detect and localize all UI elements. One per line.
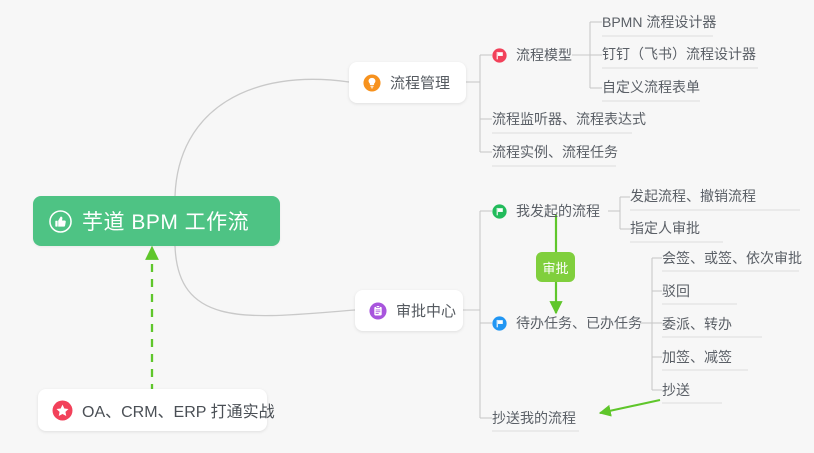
- node-process-management-label: 流程管理: [390, 72, 450, 93]
- node-approval-center-label: 审批中心: [396, 300, 456, 321]
- leaf-delegate-transfer-label: 委派、转办: [662, 314, 732, 334]
- leaf-dingtalk-feishu-designer[interactable]: 钉钉（飞书）流程设计器: [602, 40, 756, 68]
- leaf-countersign-or-sequential-label: 会签、或签、依次审批: [662, 248, 802, 268]
- leaf-bpmn-designer-label: BPMN 流程设计器: [602, 12, 716, 32]
- node-process-model-label: 流程模型: [516, 45, 572, 65]
- connector-root-to-approval-center: [175, 246, 355, 316]
- leaf-cc-label: 抄送: [662, 380, 690, 400]
- arrow-cc-to-process: [600, 400, 660, 413]
- leaf-custom-process-form[interactable]: 自定义流程表单: [602, 73, 700, 101]
- leaf-reject[interactable]: 驳回: [662, 277, 690, 305]
- leaf-reject-label: 驳回: [662, 281, 690, 301]
- leaf-custom-process-form-label: 自定义流程表单: [602, 77, 700, 97]
- leaf-add-remove-sign[interactable]: 加签、减签: [662, 343, 732, 371]
- node-todo-done-task[interactable]: 待办任务、已办任务: [492, 309, 642, 337]
- flag-icon: [492, 316, 507, 331]
- node-todo-done-task-label: 待办任务、已办任务: [516, 313, 642, 333]
- approval-badge[interactable]: 审批: [536, 252, 575, 282]
- leaf-process-instance-task[interactable]: 流程实例、流程任务: [492, 138, 618, 166]
- root-node[interactable]: 芋道 BPM 工作流: [33, 196, 280, 246]
- connector-root-to-process-management: [175, 79, 349, 196]
- clipboard-icon: [369, 302, 387, 320]
- node-my-started-process-label: 我发起的流程: [516, 201, 600, 221]
- leaf-cc-to-me-process[interactable]: 抄送我的流程: [492, 404, 576, 432]
- leaf-start-cancel-process[interactable]: 发起流程、撤销流程: [630, 182, 756, 210]
- root-label: 芋道 BPM 工作流: [82, 206, 249, 236]
- leaf-countersign-or-sequential[interactable]: 会签、或签、依次审批: [662, 244, 802, 272]
- leaf-cc-to-me-process-label: 抄送我的流程: [492, 408, 576, 428]
- leaf-add-remove-sign-label: 加签、减签: [662, 347, 732, 367]
- node-oa-crm-erp-label: OA、CRM、ERP 打通实战: [82, 398, 275, 422]
- flag-icon: [492, 204, 507, 219]
- approval-badge-label: 审批: [542, 258, 568, 277]
- leaf-dingtalk-feishu-designer-label: 钉钉（飞书）流程设计器: [602, 44, 756, 64]
- mindmap-canvas: 芋道 BPM 工作流 流程管理 流程模型 BPMN 流程设计器 钉钉（飞书）流程: [0, 0, 814, 453]
- node-my-started-process[interactable]: 我发起的流程: [492, 197, 600, 225]
- leaf-bpmn-designer[interactable]: BPMN 流程设计器: [602, 8, 716, 36]
- node-process-model[interactable]: 流程模型: [492, 41, 572, 69]
- node-process-management[interactable]: 流程管理: [349, 62, 466, 103]
- leaf-process-instance-task-label: 流程实例、流程任务: [492, 142, 618, 162]
- leaf-cc[interactable]: 抄送: [662, 376, 690, 404]
- leaf-process-listener-expression-label: 流程监听器、流程表达式: [492, 109, 646, 129]
- thumbs-up-icon: [49, 210, 72, 233]
- lightbulb-icon: [363, 74, 381, 92]
- leaf-delegate-transfer[interactable]: 委派、转办: [662, 310, 732, 338]
- node-approval-center[interactable]: 审批中心: [355, 290, 463, 331]
- star-icon: [52, 400, 73, 421]
- leaf-assignee-approval-label: 指定人审批: [630, 218, 700, 238]
- leaf-assignee-approval[interactable]: 指定人审批: [630, 214, 700, 242]
- leaf-process-listener-expression[interactable]: 流程监听器、流程表达式: [492, 105, 646, 133]
- leaf-start-cancel-process-label: 发起流程、撤销流程: [630, 186, 756, 206]
- node-oa-crm-erp[interactable]: OA、CRM、ERP 打通实战: [38, 389, 267, 431]
- flag-icon: [492, 48, 507, 63]
